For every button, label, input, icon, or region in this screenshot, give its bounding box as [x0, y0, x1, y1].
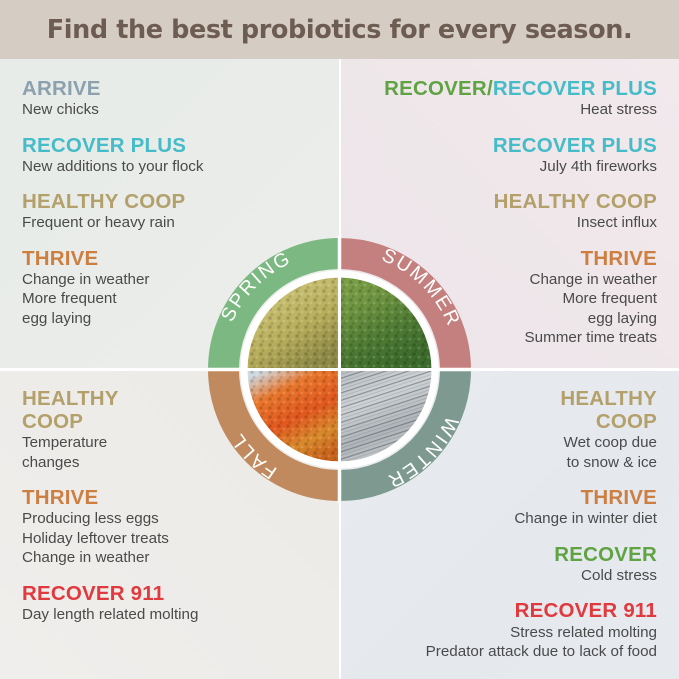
entry-thrive: THRIVE Change in weather More frequent e… — [22, 247, 318, 329]
brand-label-healthy-coop: HEALTHY COOP — [507, 387, 657, 433]
entry-description: Insect influx — [362, 213, 658, 232]
infographic-page: Find the best probiotics for every seaso… — [0, 0, 679, 679]
entry-recover-plus: RECOVER PLUS New additions to your flock — [22, 134, 318, 177]
brand-label-healthy-coop: HEALTHY COOP — [22, 387, 172, 433]
brand-label-recover-plus: RECOVER PLUS — [362, 134, 658, 157]
quadrant-summer: RECOVER/RECOVER PLUS Heat stress RECOVER… — [340, 59, 679, 369]
quadrant-winter: HEALTHY COOP Wet coop due to snow & ice … — [340, 369, 679, 679]
page-title: Find the best probiotics for every seaso… — [47, 15, 633, 45]
entry-description: Wet coop due to snow & ice — [362, 433, 658, 472]
entry-description: Day length related molting — [22, 605, 318, 624]
brand-label-thrive: THRIVE — [362, 247, 658, 270]
entry-description: Stress related molting Predator attack d… — [362, 623, 658, 662]
entry-recover-recover-plus: RECOVER/RECOVER PLUS Heat stress — [362, 77, 658, 120]
brand-label-thrive: THRIVE — [22, 247, 318, 270]
entry-description: New additions to your flock — [22, 157, 318, 176]
entry-recover-911: RECOVER 911 Day length related molting — [22, 582, 318, 625]
brand-label-healthy-coop: HEALTHY COOP — [22, 190, 318, 213]
entry-recover: RECOVER Cold stress — [362, 543, 658, 586]
brand-label-thrive: THRIVE — [362, 486, 658, 509]
brand-label-thrive: THRIVE — [22, 486, 318, 509]
header-bar: Find the best probiotics for every seaso… — [0, 0, 679, 59]
entry-thrive: THRIVE Change in weather More frequent e… — [362, 247, 658, 348]
brand-label-recover-911: RECOVER 911 — [362, 599, 658, 622]
brand-label-recover: RECOVER — [362, 543, 658, 566]
entry-description: Cold stress — [362, 566, 658, 585]
entry-healthy-coop: HEALTHY COOP Frequent or heavy rain — [22, 190, 318, 233]
entry-description: Change in weather More frequent egg layi… — [22, 270, 318, 328]
entry-healthy-coop: HEALTHY COOP Temperature changes — [22, 387, 318, 472]
entry-thrive: THRIVE Change in winter diet — [362, 486, 658, 529]
brand-label-recover-911: RECOVER 911 — [22, 582, 318, 605]
quadrant-fall: HEALTHY COOP Temperature changes THRIVE … — [0, 369, 340, 679]
brand-label-recover-plus: RECOVER PLUS — [22, 134, 318, 157]
season-quadrant-grid: ARRIVE New chicks RECOVER PLUS New addit… — [0, 59, 679, 679]
entry-arrive: ARRIVE New chicks — [22, 77, 318, 120]
entry-recover-plus: RECOVER PLUS July 4th fireworks — [362, 134, 658, 177]
brand-label-arrive: ARRIVE — [22, 77, 318, 100]
entry-description: Temperature changes — [22, 433, 318, 472]
entry-description: New chicks — [22, 100, 318, 119]
entry-description: Heat stress — [362, 100, 658, 119]
entry-description: Frequent or heavy rain — [22, 213, 318, 232]
entry-description: Change in winter diet — [362, 509, 658, 528]
entry-healthy-coop: HEALTHY COOP Insect influx — [362, 190, 658, 233]
entry-description: Change in weather More frequent egg layi… — [362, 270, 658, 348]
horizontal-divider — [0, 368, 679, 371]
brand-label-healthy-coop: HEALTHY COOP — [362, 190, 658, 213]
quadrant-spring: ARRIVE New chicks RECOVER PLUS New addit… — [0, 59, 340, 369]
entry-healthy-coop: HEALTHY COOP Wet coop due to snow & ice — [362, 387, 658, 472]
entry-description: Producing less eggs Holiday leftover tre… — [22, 509, 318, 567]
entry-thrive: THRIVE Producing less eggs Holiday lefto… — [22, 486, 318, 568]
entry-description: July 4th fireworks — [362, 157, 658, 176]
brand-label-recover-plus: RECOVER PLUS — [493, 77, 657, 100]
entry-recover-911: RECOVER 911 Stress related molting Preda… — [362, 599, 658, 661]
brand-label-recover-combo: RECOVER/RECOVER PLUS — [362, 77, 658, 100]
brand-label-recover: RECOVER — [384, 77, 487, 100]
